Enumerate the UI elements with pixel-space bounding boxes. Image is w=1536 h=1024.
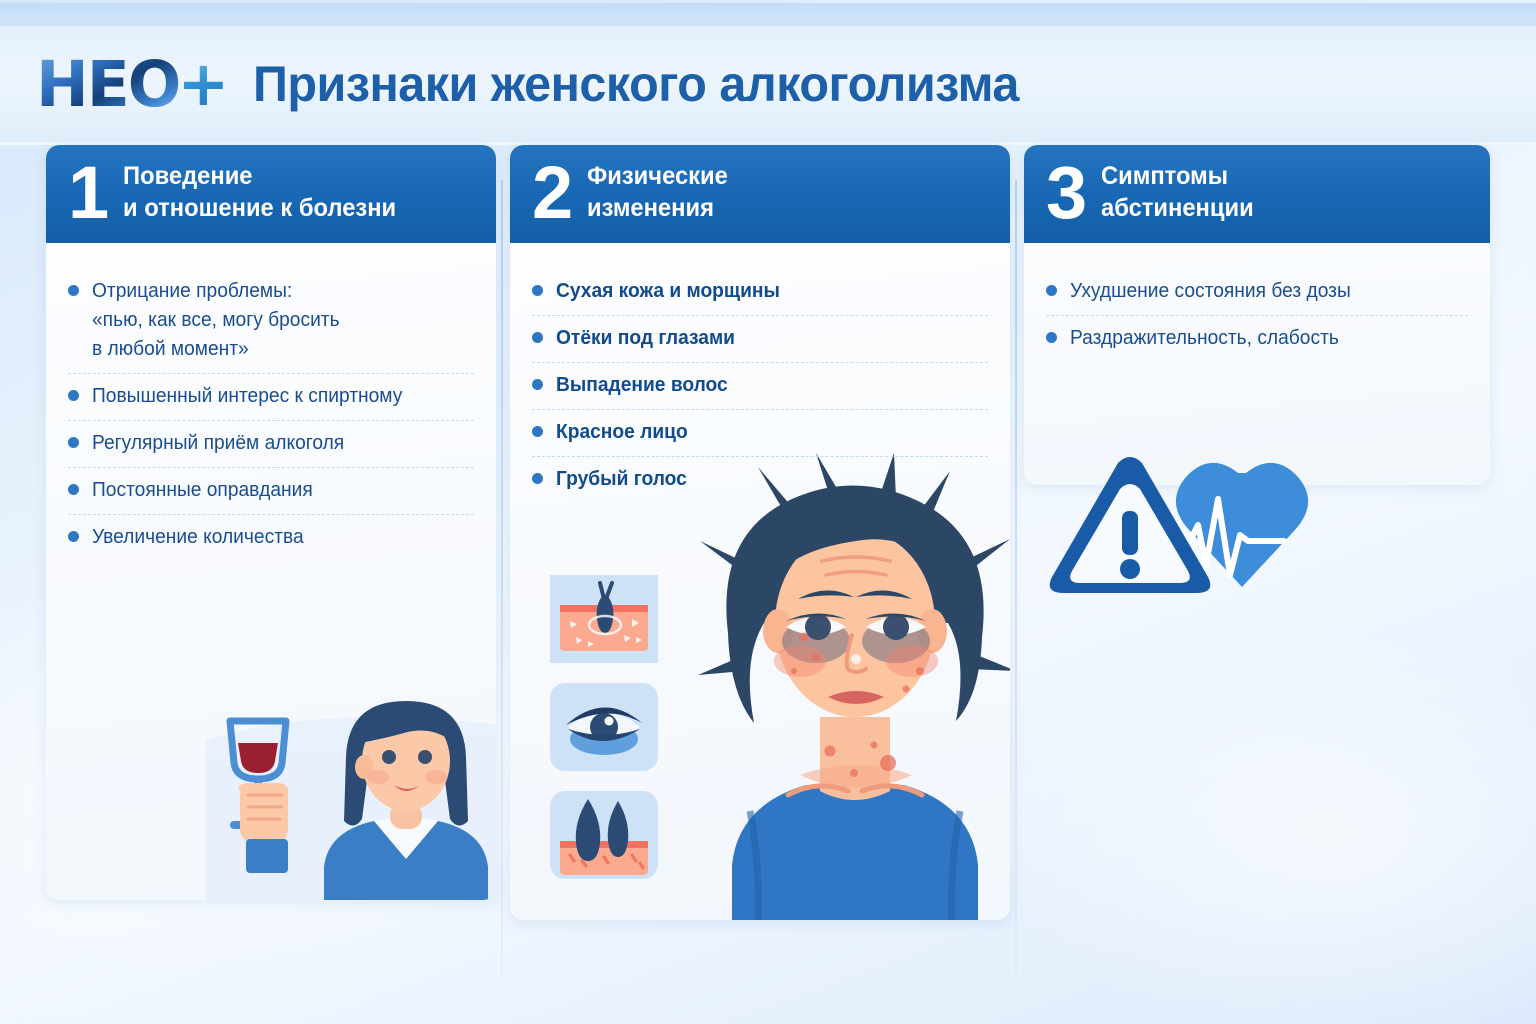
- item-line: Повышенный интерес к спиртному: [92, 382, 402, 411]
- card-number: 1: [68, 159, 106, 227]
- bullet-icon: [68, 437, 79, 448]
- item-line: Выпадение волос: [556, 371, 728, 400]
- card-title: Симптомы абстиненции: [1101, 161, 1254, 225]
- list-item[interactable]: Красное лицо: [532, 409, 988, 456]
- item-line: в любой момент»: [92, 335, 340, 364]
- item-line: Регулярный приём алкоголя: [92, 429, 344, 458]
- card-list: Сухая кожа и морщины Отёки под глазами В…: [510, 243, 1010, 513]
- card-list: Ухудшение состояния без дозы Раздражител…: [1024, 243, 1490, 372]
- card-title-line: и отношение к болезни: [123, 193, 396, 225]
- bullet-icon: [68, 531, 79, 542]
- bullet-icon: [1046, 285, 1057, 296]
- card-title-line: Поведение: [123, 161, 396, 193]
- card-title: Физические изменения: [587, 161, 728, 225]
- page-header: НЕО + Признаки женского алкоголизма: [0, 23, 1536, 145]
- page-title: Признаки женского алкоголизма: [253, 55, 1019, 113]
- card-title-line: Симптомы: [1101, 161, 1254, 193]
- card-withdrawal: 3 Симптомы абстиненции Ухудшение состоян…: [1024, 145, 1490, 485]
- list-item[interactable]: Повышенный интерес к спиртному: [68, 373, 474, 420]
- bullet-icon: [532, 379, 543, 390]
- bullet-icon: [532, 426, 543, 437]
- list-item[interactable]: Выпадение волос: [532, 362, 988, 409]
- item-line: «пью, как все, могу бросить: [92, 306, 340, 335]
- card-header: 1 Поведение и отношение к болезни: [46, 145, 496, 243]
- item-line: Раздражительность, слабость: [1070, 324, 1339, 353]
- bullet-icon: [532, 473, 543, 484]
- item-line: Отёки под глазами: [556, 324, 735, 353]
- card-title-line: абстиненции: [1101, 193, 1254, 225]
- skin-follicle-icon: [550, 575, 658, 663]
- list-item[interactable]: Грубый голос: [532, 456, 988, 503]
- bullet-icon: [68, 484, 79, 495]
- eye-bag-icon: [550, 683, 658, 771]
- list-item[interactable]: Ухудшение состояния без дозы: [1046, 269, 1468, 315]
- bullet-icon: [1046, 332, 1057, 343]
- bullet-icon: [532, 332, 543, 343]
- woman-with-wine-glass-illustration: [206, 681, 496, 900]
- list-item[interactable]: Отрицание проблемы: «пью, как все, могу …: [68, 269, 474, 373]
- item-line: Отрицание проблемы:: [92, 277, 340, 306]
- list-item[interactable]: Увеличение количества: [68, 514, 474, 561]
- logo-plus-icon: +: [177, 53, 229, 115]
- list-item[interactable]: Регулярный приём алкоголя: [68, 420, 474, 467]
- card-list: Отрицание проблемы: «пью, как все, могу …: [46, 243, 496, 571]
- content-columns: 1 Поведение и отношение к болезни Отрица…: [0, 145, 1536, 1024]
- logo-text: НЕО: [36, 53, 179, 116]
- bullet-icon: [68, 390, 79, 401]
- list-item[interactable]: Постоянные оправдания: [68, 467, 474, 514]
- column-divider: [501, 180, 503, 980]
- card-header: 2 Физические изменения: [510, 145, 1010, 243]
- item-line: Ухудшение состояния без дозы: [1070, 277, 1351, 306]
- tired-woman-illustration: [680, 445, 1010, 920]
- card-number: 3: [1046, 159, 1084, 227]
- card-behavior: 1 Поведение и отношение к болезни Отрица…: [46, 145, 496, 900]
- brand-logo: НЕО +: [36, 53, 229, 116]
- card-physical: 2 Физические изменения Сухая кожа и морщ…: [510, 145, 1010, 920]
- hair-loss-icon: [550, 791, 658, 879]
- column-divider: [1015, 180, 1017, 980]
- bullet-icon: [68, 285, 79, 296]
- list-item[interactable]: Сухая кожа и морщины: [532, 269, 988, 315]
- item-line: Красное лицо: [556, 418, 688, 447]
- column-physical: 2 Физические изменения Сухая кожа и морщ…: [510, 145, 1010, 920]
- card-title: Поведение и отношение к болезни: [123, 161, 396, 225]
- column-behavior: 1 Поведение и отношение к болезни Отрица…: [46, 145, 496, 900]
- item-line: Увеличение количества: [92, 523, 304, 552]
- list-item[interactable]: Раздражительность, слабость: [1046, 315, 1468, 362]
- bullet-icon: [532, 285, 543, 296]
- card-header: 3 Симптомы абстиненции: [1024, 145, 1490, 243]
- symptom-icon-tiles: [544, 569, 664, 879]
- item-line: Постоянные оправдания: [92, 476, 313, 505]
- list-item[interactable]: Отёки под глазами: [532, 315, 988, 362]
- column-withdrawal: 3 Симптомы абстиненции Ухудшение состоян…: [1024, 145, 1490, 485]
- item-line: Сухая кожа и морщины: [556, 277, 780, 306]
- item-line: Грубый голос: [556, 465, 687, 494]
- card-title-line: изменения: [587, 193, 728, 225]
- card-title-line: Физические: [587, 161, 728, 193]
- card-number: 2: [532, 159, 570, 227]
